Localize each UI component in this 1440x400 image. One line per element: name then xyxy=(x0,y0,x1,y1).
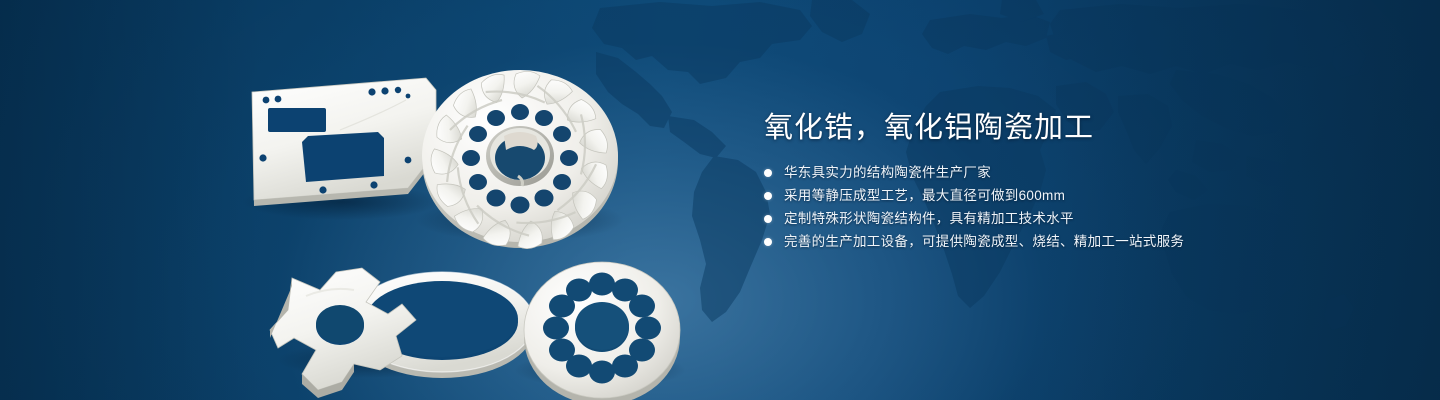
bullet-dot-icon xyxy=(764,169,772,177)
feature-item: 采用等静压成型工艺，最大直径可做到600mm xyxy=(764,185,1364,207)
bullet-dot-icon xyxy=(764,192,772,200)
ceramic-hole-disc-part xyxy=(524,262,680,400)
bullet-dot-icon xyxy=(764,215,772,223)
hero-banner: 氧化锆，氧化铝陶瓷加工 华东具实力的结构陶瓷件生产厂家 采用等静压成型工艺，最大… xyxy=(0,0,1440,400)
feature-text: 采用等静压成型工艺，最大直径可做到600mm xyxy=(784,185,1065,207)
feature-text: 完善的生产加工设备，可提供陶瓷成型、烧结、精加工一站式服务 xyxy=(784,231,1184,253)
feature-item: 完善的生产加工设备，可提供陶瓷成型、烧结、精加工一站式服务 xyxy=(764,231,1364,253)
ceramic-products-image xyxy=(230,30,710,380)
banner-headline: 氧化锆，氧化铝陶瓷加工 xyxy=(764,108,1364,148)
feature-item: 定制特殊形状陶瓷结构件，具有精加工技术水平 xyxy=(764,208,1364,230)
bullet-dot-icon xyxy=(764,238,772,246)
banner-copy: 氧化锆，氧化铝陶瓷加工 华东具实力的结构陶瓷件生产厂家 采用等静压成型工艺，最大… xyxy=(764,108,1364,254)
feature-item: 华东具实力的结构陶瓷件生产厂家 xyxy=(764,162,1364,184)
feature-text: 定制特殊形状陶瓷结构件，具有精加工技术水平 xyxy=(784,208,1074,230)
ceramic-plate-part xyxy=(252,78,436,206)
feature-text: 华东具实力的结构陶瓷件生产厂家 xyxy=(784,162,991,184)
feature-list: 华东具实力的结构陶瓷件生产厂家 采用等静压成型工艺，最大直径可做到600mm 定… xyxy=(764,162,1364,253)
